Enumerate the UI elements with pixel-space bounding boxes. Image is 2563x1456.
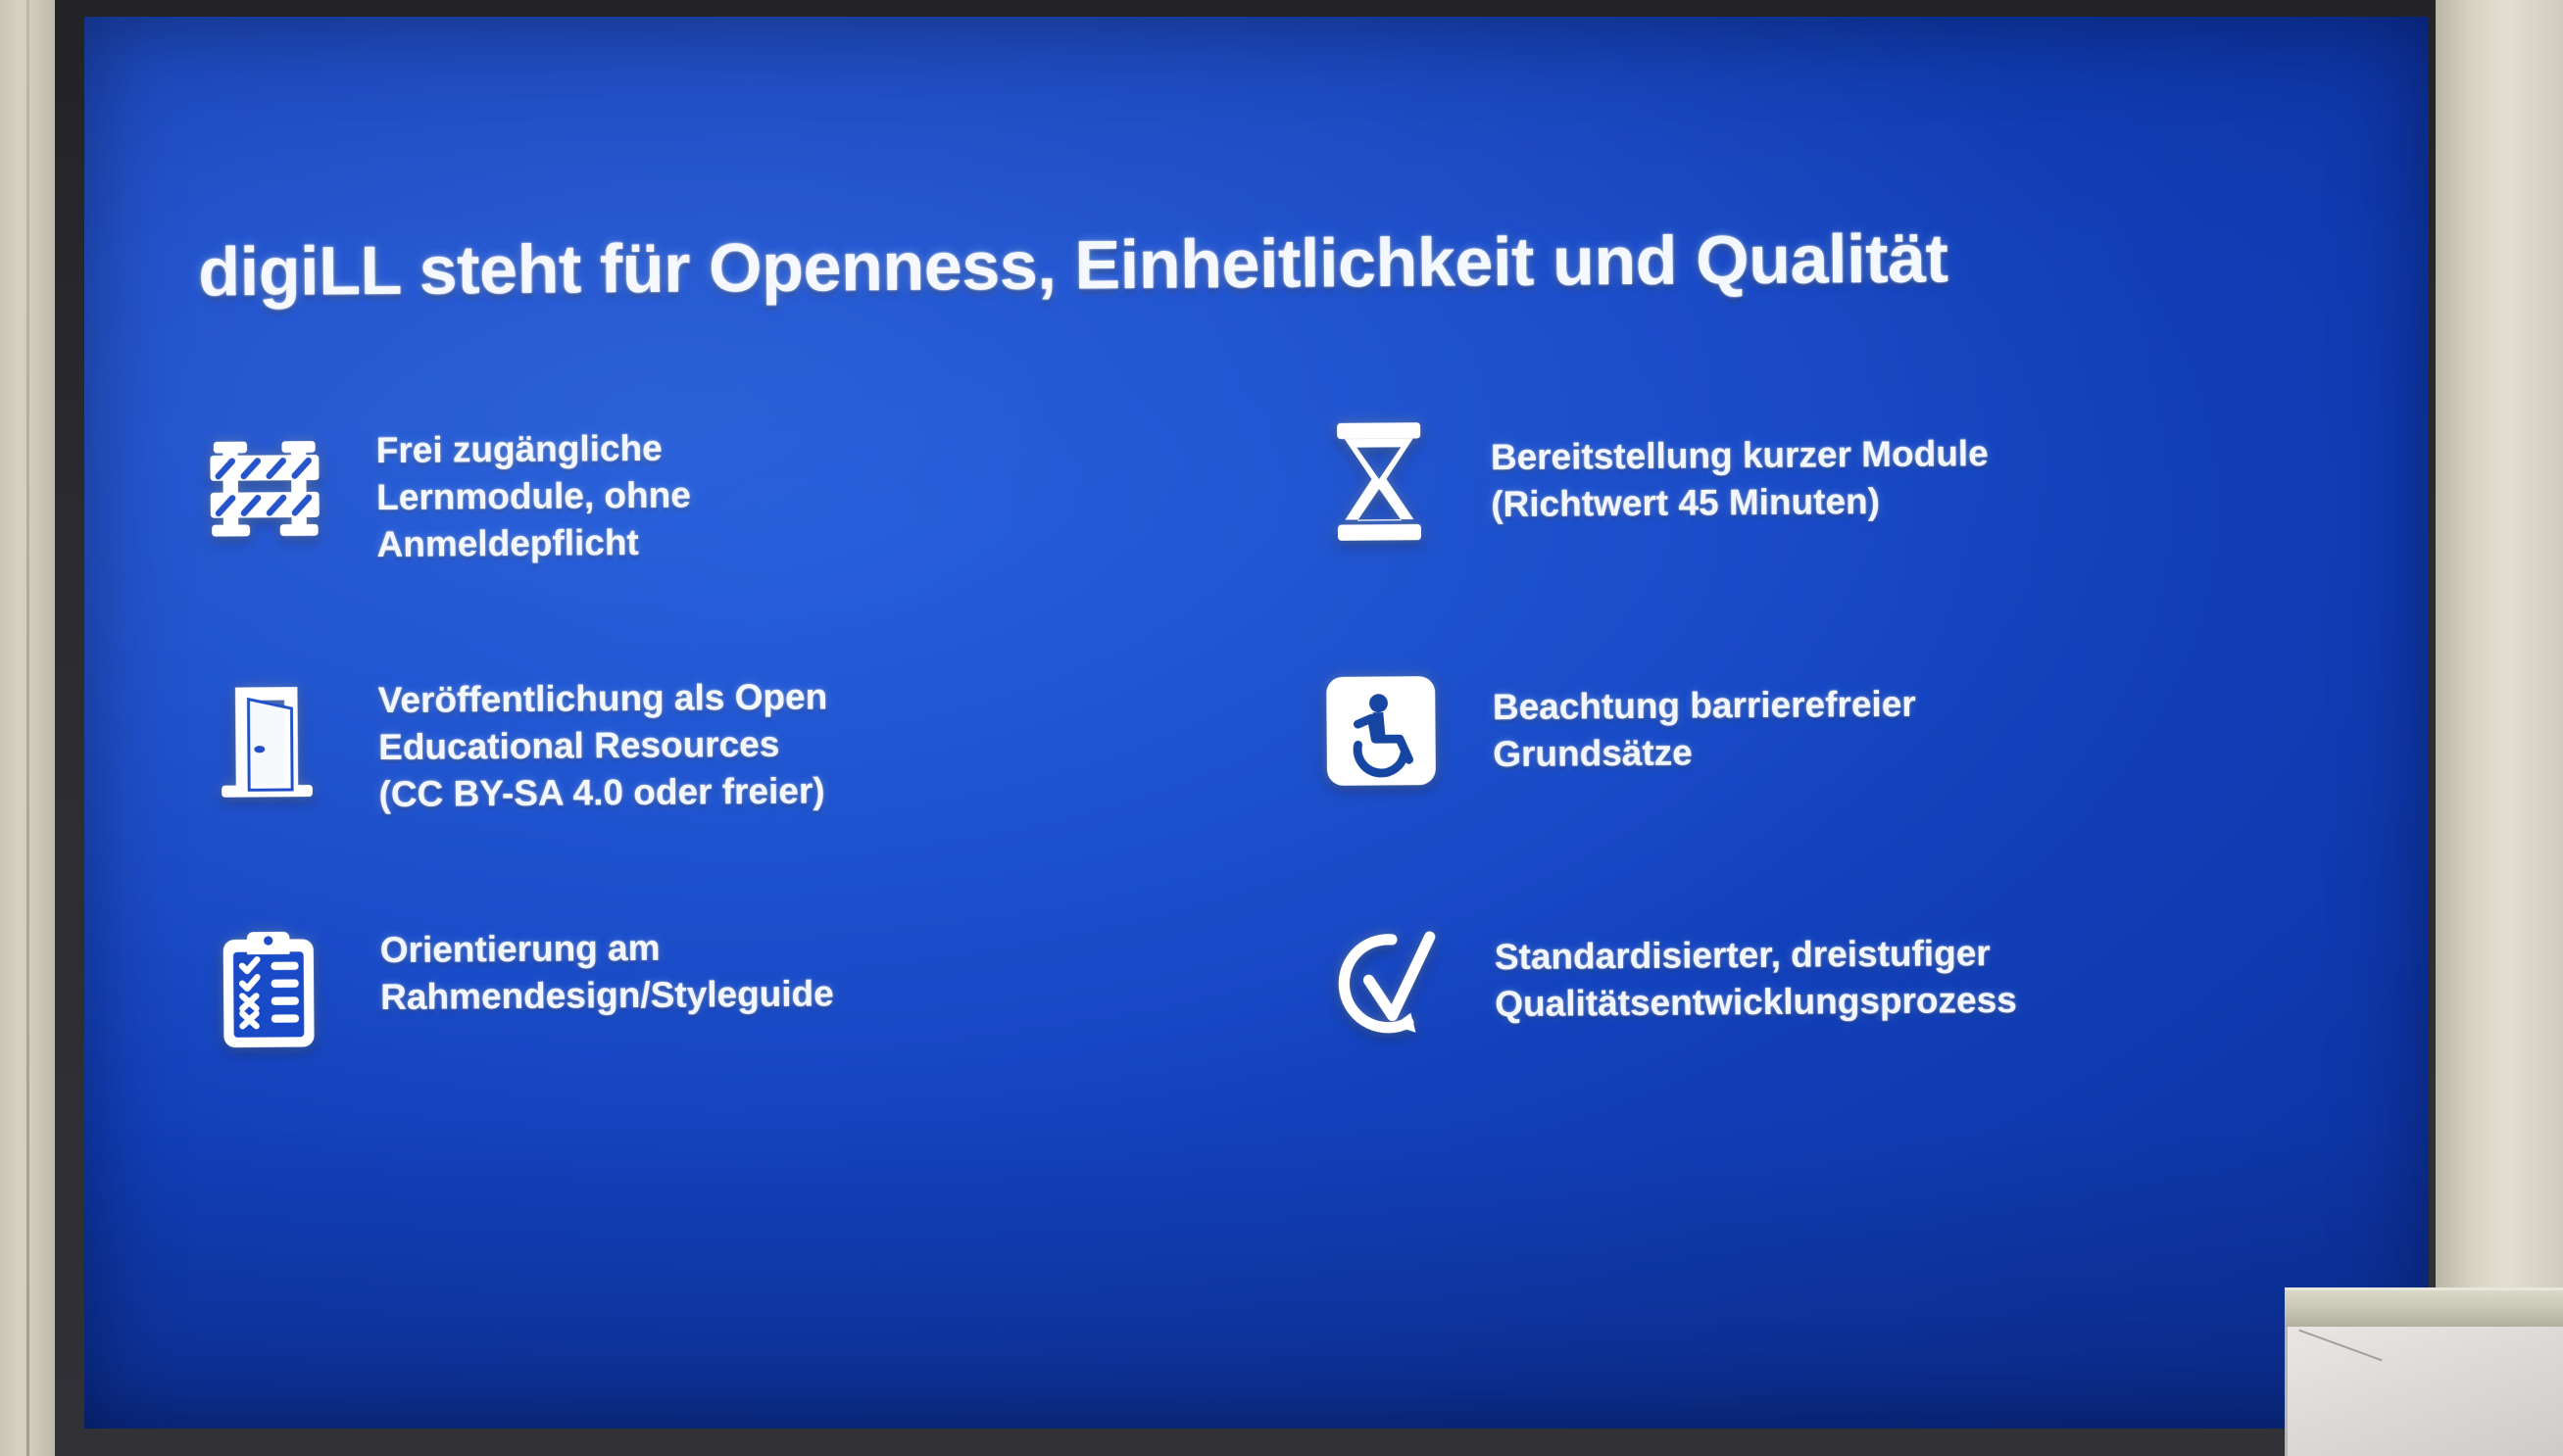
feature-item-short-modules: Bereitstellung kurzer Module (Richtwert …: [1282, 400, 2367, 658]
wall-left: [0, 0, 55, 1456]
circular-arrow-check-icon: [1317, 906, 1448, 1054]
construction-barrier-icon: [200, 415, 330, 563]
feature-text: Beachtung barrierefreier Grundsätze: [1492, 654, 1916, 779]
feature-line: Standardisierter, dreistufiger: [1495, 930, 2017, 981]
feature-line: Frei zugängliche: [376, 425, 691, 475]
feature-line: Rahmendesign/Styleguide: [380, 970, 834, 1021]
feature-line: Bereitstellung kurzer Module: [1491, 430, 1989, 481]
feature-line: Educational Resources: [378, 721, 828, 772]
feature-text: Orientierung am Rahmendesign/Styleguide: [380, 911, 834, 1021]
wall-right: [2436, 0, 2563, 1456]
feature-grid: Frei zugängliche Lernmodule, ohne Anmeld…: [200, 400, 2372, 1166]
flipchart-sheet: [2285, 1327, 2563, 1456]
feature-item-quality-process: Standardisierter, dreistufiger Qualitäts…: [1286, 899, 2371, 1158]
feature-line: Qualitätsentwicklungsprozess: [1495, 977, 2017, 1028]
feature-line: Veröffentlichung als Open: [378, 673, 828, 724]
photo-scene: digiLL steht für Openness, Einheitlichke…: [0, 0, 2563, 1456]
flipchart-corner: [2279, 1287, 2563, 1456]
feature-text: Frei zugängliche Lernmodule, ohne Anmeld…: [376, 413, 692, 569]
wheelchair-accessibility-icon: [1315, 656, 1446, 804]
presentation-slide: digiLL steht für Openness, Einheitlichke…: [84, 17, 2429, 1429]
slide-content: digiLL steht für Openness, Einheitlichke…: [84, 17, 2429, 1429]
hourglass-icon: [1313, 407, 1444, 555]
flipchart-rail: [2285, 1287, 2563, 1332]
slide-title: digiLL steht für Openness, Einheitlichke…: [198, 218, 1948, 311]
feature-line: Grundsätze: [1493, 728, 1916, 778]
feature-line: Beachtung barrierefreier: [1493, 681, 1916, 731]
feature-line: Anmeldepflicht: [376, 519, 691, 569]
feature-item-oer-license: Veröffentlichung als Open Educational Re…: [202, 658, 1287, 917]
feature-line: (CC BY-SA 4.0 oder freier): [378, 768, 828, 819]
clipboard-checklist-icon: [204, 915, 334, 1063]
feature-item-open-access: Frei zugängliche Lernmodule, ohne Anmeld…: [200, 409, 1285, 667]
feature-text: Veröffentlichung als Open Educational Re…: [378, 661, 829, 818]
feature-line: Lernmodule, ohne: [376, 472, 691, 522]
feature-item-accessibility: Beachtung barrierefreier Grundsätze: [1284, 650, 2369, 908]
feature-text: Bereitstellung kurzer Module (Richtwert …: [1490, 403, 1989, 528]
feature-line: (Richtwert 45 Minuten): [1491, 477, 1989, 528]
feature-text: Standardisierter, dreistufiger Qualitäts…: [1494, 902, 2016, 1028]
feature-item-styleguide: Orientierung am Rahmendesign/Styleguide: [204, 908, 1289, 1167]
open-door-icon: [202, 665, 332, 813]
feature-line: Orientierung am: [380, 923, 834, 974]
